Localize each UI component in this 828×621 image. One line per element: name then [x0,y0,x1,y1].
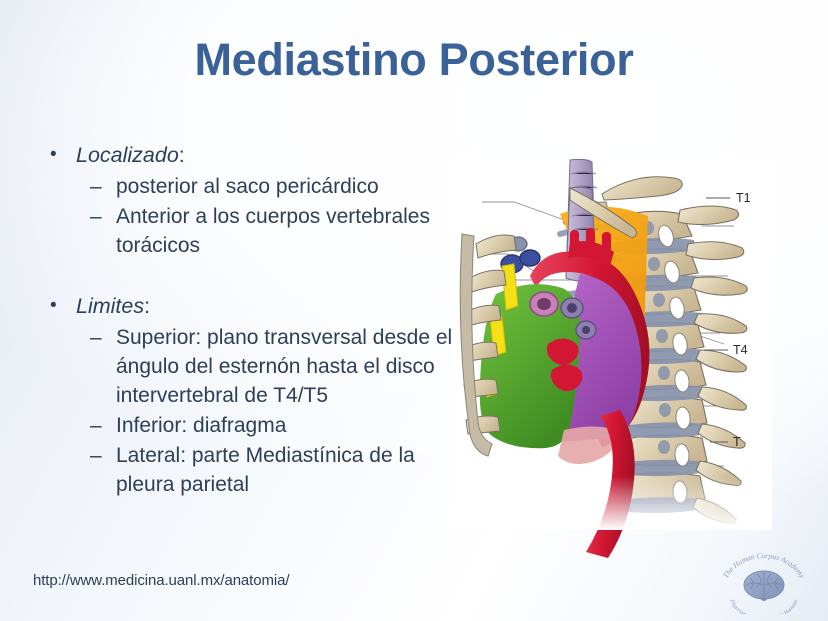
bullet-level1-limites: • Limites: [38,291,458,321]
section-heading-localizado: Localizado [76,143,179,167]
sub-bullet-text: posterior al saco pericárdico [116,175,379,198]
section-heading-limites: Limites [76,294,144,318]
dash-marker-icon: – [90,323,102,352]
label-t1: T1 [736,191,751,205]
dash-marker-icon: – [90,172,102,201]
sub-bullet-limites-3: – Lateral: parte Mediastínica de la pleu… [38,441,458,499]
anatomy-illustration: T1 T4 T [452,158,828,558]
dash-marker-icon: – [90,202,102,231]
content-body: • Localizado: – posterior al saco pericá… [38,140,458,500]
source-url: http://www.medicina.uanl.mx/anatomia/ [33,572,289,589]
figure-fade [452,476,772,530]
bullet-dot-icon: • [50,140,57,170]
department-logo: The Human Corpus Academy Departamento de… [712,552,816,614]
bullet-level1-localizado: • Localizado: [38,140,458,170]
brain-icon [744,571,784,601]
sub-bullet-limites-1: – Superior: plano transversal desde el á… [38,323,458,410]
section-heading-suffix: : [179,143,185,167]
section-heading-suffix: : [144,294,150,318]
sub-bullet-localizado-1: – posterior al saco pericárdico [38,172,458,201]
label-t4: T4 [733,343,748,357]
sub-bullet-localizado-2: – Anterior a los cuerpos vertebrales tor… [38,202,458,260]
bullet-dot-icon: • [50,291,57,321]
slide-root: Mediastino Posterior • Localizado: – pos… [0,0,828,621]
sub-bullet-text: Lateral: parte Mediastínica de la pleura… [116,444,415,496]
sub-bullet-text: Superior: plano transversal desde el áng… [116,326,452,407]
dash-marker-icon: – [90,411,102,440]
sub-bullet-text: Anterior a los cuerpos vertebrales torác… [116,205,430,257]
label-t: T [733,435,741,449]
section-spacer [38,261,458,291]
dash-marker-icon: – [90,441,102,470]
sub-bullet-text: Inferior: diafragma [116,414,286,437]
sub-bullet-limites-2: – Inferior: diafragma [38,411,458,440]
page-title: Mediastino Posterior [0,34,828,86]
